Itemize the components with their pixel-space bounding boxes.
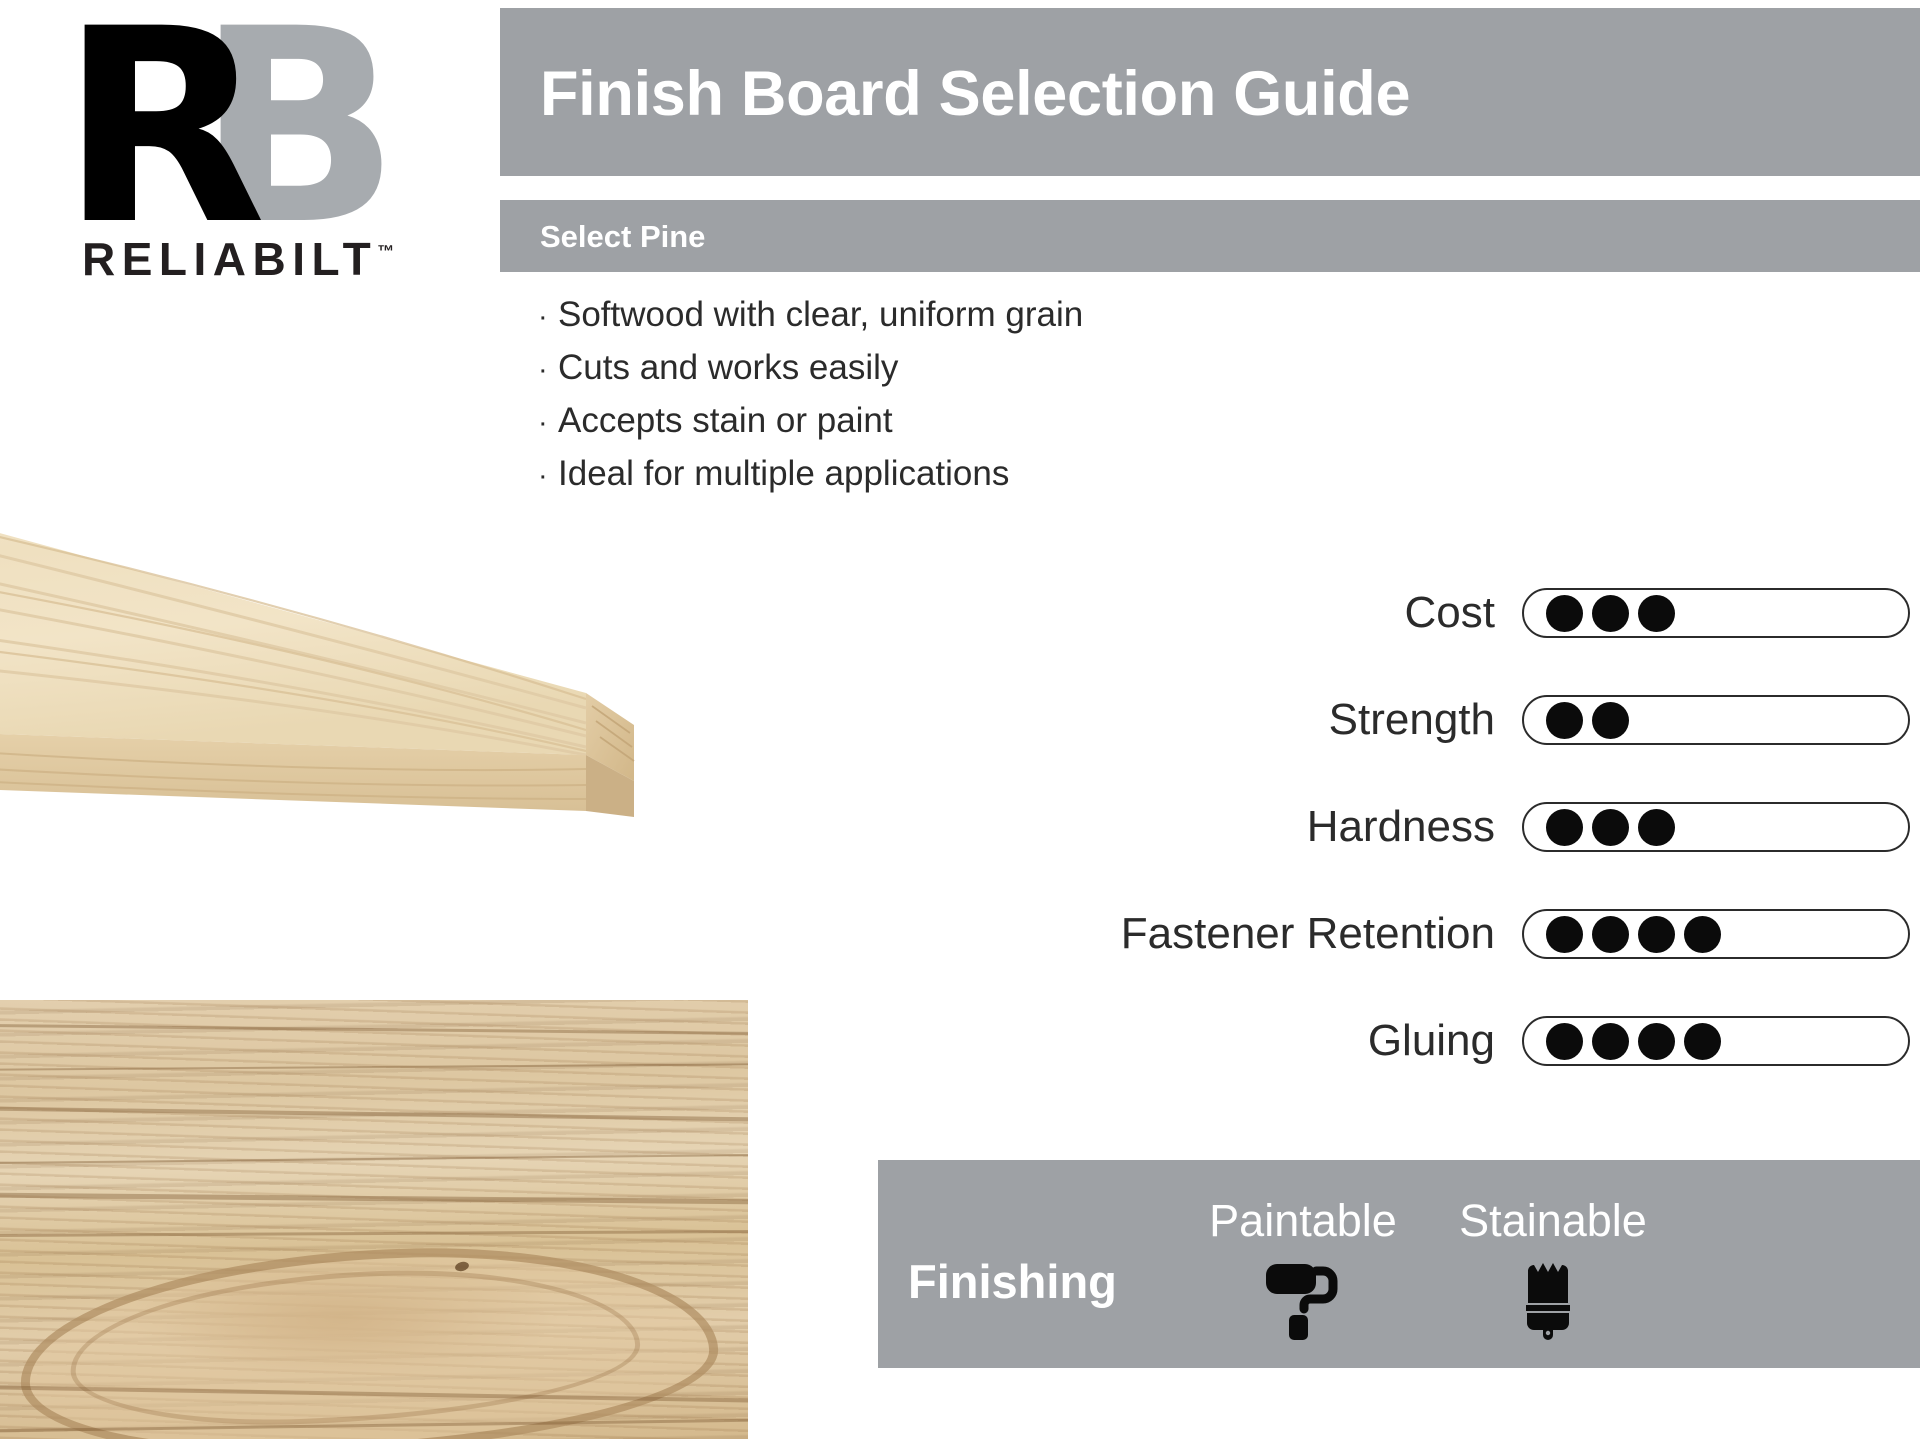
rating-label: Hardness xyxy=(1307,802,1522,852)
rating-dot xyxy=(1592,916,1629,953)
rating-dot xyxy=(1638,595,1675,632)
finishing-title: Finishing xyxy=(908,1254,1117,1309)
subtitle-bar: Select Pine xyxy=(500,200,1920,272)
grain-line xyxy=(0,1063,748,1071)
finishing-panel: Finishing Paintable Stainable xyxy=(878,1160,1920,1368)
list-item-label: Softwood with clear, uniform grain xyxy=(558,295,1083,335)
grain-line xyxy=(0,1154,748,1165)
rb-monogram: B R xyxy=(50,16,430,216)
list-item: · Softwood with clear, uniform grain xyxy=(538,295,1338,335)
rating-row-hardness: Hardness xyxy=(900,797,1910,857)
product-name: Select Pine xyxy=(540,219,705,255)
grain-line xyxy=(0,1106,748,1122)
rating-label: Cost xyxy=(1405,588,1522,638)
brand-wordmark: RELIABILT™ xyxy=(82,232,394,286)
finish-option-label: Stainable xyxy=(1418,1198,1688,1243)
rating-label: Strength xyxy=(1329,695,1522,745)
rating-dot xyxy=(1684,1023,1721,1060)
paint-roller-icon-svg xyxy=(1264,1258,1342,1342)
rating-row-strength: Strength xyxy=(900,690,1910,750)
paint-brush-icon-svg xyxy=(1522,1257,1584,1343)
finish-option-stainable: Stainable xyxy=(1418,1198,1688,1345)
board-illustration xyxy=(0,425,950,905)
finish-option-paintable: Paintable xyxy=(1168,1198,1438,1345)
list-item-label: Cuts and works easily xyxy=(558,348,898,388)
rating-dot xyxy=(1592,1023,1629,1060)
rating-dot xyxy=(1638,809,1675,846)
rating-dot xyxy=(1592,702,1629,739)
trademark-symbol: ™ xyxy=(377,242,394,261)
rating-dot xyxy=(1638,1023,1675,1060)
page-title: Finish Board Selection Guide xyxy=(540,58,1410,130)
title-bar: Finish Board Selection Guide xyxy=(500,8,1920,176)
rating-pill-gluing xyxy=(1522,1016,1910,1066)
list-item: · Cuts and works easily xyxy=(538,348,1338,388)
logo-letter-r: R xyxy=(60,0,252,262)
bullet-icon: · xyxy=(538,303,558,332)
rating-pill-hardness xyxy=(1522,802,1910,852)
grain-line xyxy=(0,1192,748,1204)
grain-line xyxy=(0,1024,748,1036)
rating-label: Gluing xyxy=(1368,1016,1522,1066)
rating-dot xyxy=(1546,702,1583,739)
rating-dot xyxy=(1546,916,1583,953)
rating-dot xyxy=(1684,916,1721,953)
product-photo-board xyxy=(0,425,950,905)
rating-dot xyxy=(1546,809,1583,846)
ratings-panel: Cost Strength Hardness Fastener Retentio… xyxy=(900,583,1910,1118)
rating-dot xyxy=(1546,595,1583,632)
rating-row-cost: Cost xyxy=(900,583,1910,643)
wood-grain-swatch xyxy=(0,1000,748,1439)
brand-logo: B R RELIABILT™ xyxy=(40,10,440,280)
rating-pill-cost xyxy=(1522,588,1910,638)
grain-line xyxy=(0,1230,748,1237)
rating-label: Fastener Retention xyxy=(1121,909,1522,959)
rating-dot xyxy=(1592,809,1629,846)
paint-roller-icon xyxy=(1168,1255,1438,1345)
paint-brush-icon xyxy=(1418,1255,1688,1345)
rating-row-fastener-retention: Fastener Retention xyxy=(900,904,1910,964)
rating-dot xyxy=(1592,595,1629,632)
rating-dot xyxy=(1638,916,1675,953)
rating-row-gluing: Gluing xyxy=(900,1011,1910,1071)
rating-pill-fastener-retention xyxy=(1522,909,1910,959)
brand-wordmark-text: RELIABILT xyxy=(82,233,377,285)
rating-dot xyxy=(1546,1023,1583,1060)
rating-pill-strength xyxy=(1522,695,1910,745)
finish-option-label: Paintable xyxy=(1168,1198,1438,1243)
bullet-icon: · xyxy=(538,356,558,385)
